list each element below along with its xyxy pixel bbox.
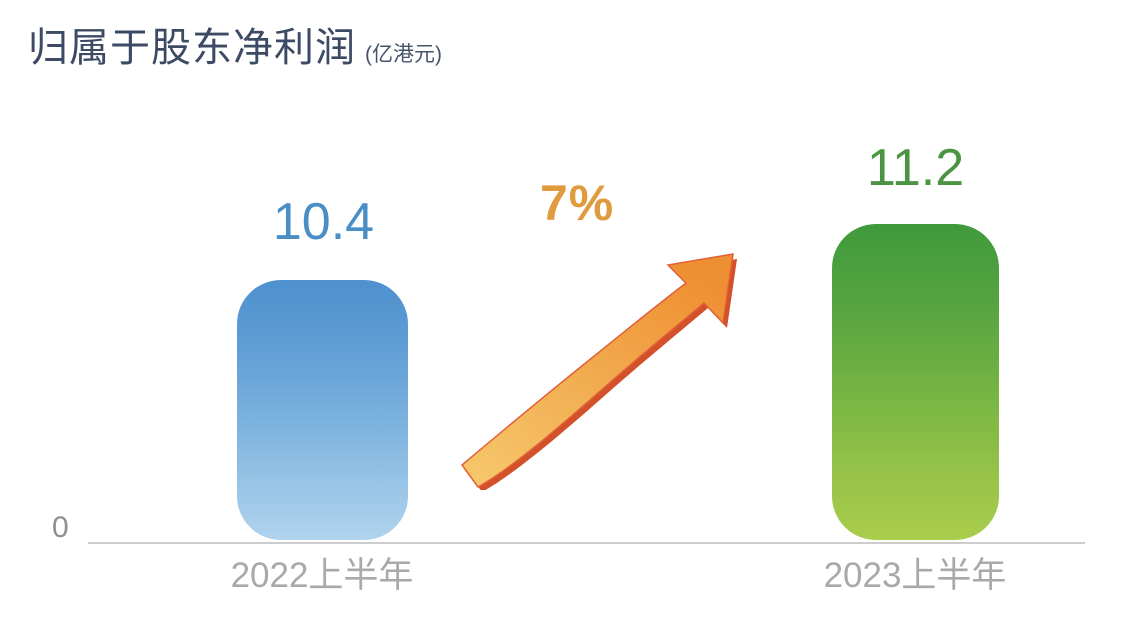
bar-2022[interactable] <box>237 280 408 540</box>
bar-2023[interactable] <box>832 224 999 540</box>
growth-arrow-icon <box>440 235 750 490</box>
growth-percent-label: 7% <box>540 178 614 228</box>
chart-canvas: 归属于股东净利润 (亿港元) 10.4 11.2 7% 0 2022上半年 20… <box>0 0 1134 618</box>
axis-baseline <box>88 542 1085 544</box>
chart-title-unit: (亿港元) <box>365 44 442 65</box>
chart-title: 归属于股东净利润 (亿港元) <box>28 28 442 68</box>
arrow-body <box>462 254 733 487</box>
category-label-2023: 2023上半年 <box>783 558 1047 593</box>
axis-zero-label: 0 <box>52 513 69 543</box>
category-label-2022: 2022上半年 <box>190 558 454 593</box>
value-label-2022: 10.4 <box>246 196 401 248</box>
value-label-2023: 11.2 <box>838 142 993 194</box>
chart-title-main: 归属于股东净利润 <box>28 28 356 68</box>
